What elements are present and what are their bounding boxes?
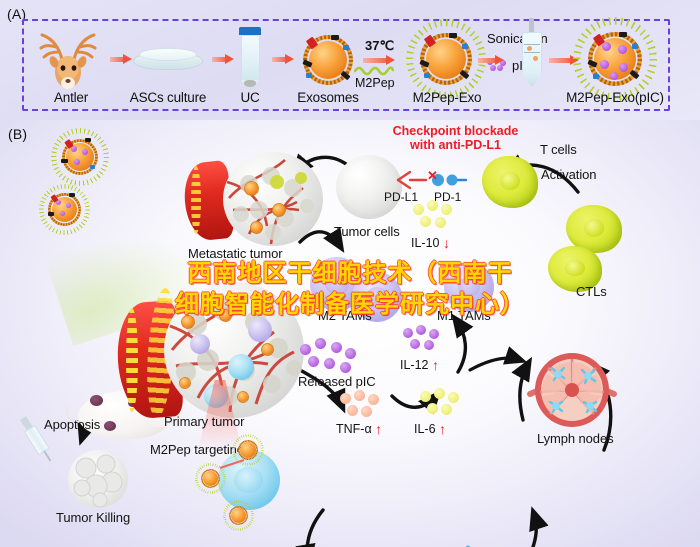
blockade-x-icon: ✕ [427,168,438,184]
label-t-cells: T cells [540,142,577,157]
il6-dots [420,388,464,418]
arrow-uc-to-exosomes [272,54,294,65]
apoptotic-cell [68,450,128,508]
targeting-exosome-3 [228,505,249,526]
panel-a-m2pep-label: M2Pep [355,76,395,90]
label-activation: Activation [541,167,596,182]
cytokine-il12: IL-12 ↑ [400,356,439,372]
m2pep-exosome-particle [418,31,474,87]
free-exosome-2 [47,192,82,227]
figure-canvas: (A) [0,0,700,547]
released-pic-dots [300,338,358,374]
panel-a-temperature-label: 37℃ [365,38,394,54]
cytokine-il6: IL-6 ↑ [414,420,446,436]
tumor-exosome-c [249,220,264,235]
label-tumor-cells: Tumor cells [334,224,400,239]
cytokine-il6-arrow: ↑ [439,421,446,437]
label-m1-tams: M1 TAMs [437,308,491,323]
cytokine-tnf-arrow: ↑ [375,421,382,437]
label-m2-tams: M2 TAMs [318,308,372,323]
tumor-exosome-b [271,202,287,218]
primary-tumor-illustration [118,280,308,430]
exosome-particle [301,33,355,87]
petri-dish-icon [133,48,203,74]
panel-a-label-antler: Antler [36,90,106,105]
centrifuge-tube-icon [238,27,262,91]
cytokine-il10-arrow: ↓ [443,235,450,251]
label-primary-tumor: Primary tumor [164,414,244,429]
cytokine-tnf-name: TNF-α [336,422,372,436]
panel-a: (A) [0,0,700,122]
cytokine-il12-name: IL-12 [400,358,429,372]
tnf-alpha-dots [340,390,384,420]
pdl1-pd1-receptors [396,160,488,192]
label-tumor-killing: Tumor Killing [56,510,130,525]
metastatic-tumor-illustration [185,148,330,253]
lymph-node-illustration [524,350,620,432]
free-exosome-1 [60,137,100,177]
targeting-pointer [218,452,250,474]
panel-a-label-m2pep-exo-pic: M2Pep-Exo(pIC) [553,90,677,105]
label-apoptosis: Apoptosis [44,417,100,432]
label-metastatic-tumor: Metastatic tumor [188,246,283,261]
tumor-cell-highlight [342,160,398,214]
panel-a-label-uc: UC [225,90,275,105]
label-checkpoint-blockade: Checkpoint blockade with anti-PD-L1 [368,124,543,152]
antler-deer-illustration [36,28,106,90]
label-ctls: CTLs [576,284,607,299]
arrow-asc-to-uc [212,54,234,65]
cytokine-il10: IL-10 ↓ [411,234,450,250]
cytokine-il12-arrow: ↑ [432,357,439,373]
il10-cytokine-dots [413,200,457,232]
m1-tam-cell-1 [444,262,494,312]
panel-a-label-asc-culture: ASCs culture [126,90,210,105]
cytokine-il6-name: IL-6 [414,422,436,436]
sonication-tube-icon [521,26,543,88]
panel-a-label-m2pep-exo: M2Pep-Exo [406,90,488,105]
cytokine-tnf-alpha: TNF-α ↑ [336,420,382,436]
m2pep-exosome-pic-particle [586,30,644,88]
label-lymph-nodes: Lymph nodes [537,431,613,446]
label-released-pic: Released pIC [298,374,376,389]
t-cell-upper [482,156,538,208]
arrow-m2pepexo-to-sonication [478,55,504,66]
panel-a-label-exosomes: Exosomes [292,90,364,105]
tumor-exosome-a [243,180,260,197]
pic-dots-near-m1 [403,325,449,355]
arrow-antler-to-asc [110,54,132,65]
cytokine-il10-name: IL-10 [411,236,440,250]
panel-b: Metastatic tumor Checkpoint blockade wit… [0,120,700,547]
